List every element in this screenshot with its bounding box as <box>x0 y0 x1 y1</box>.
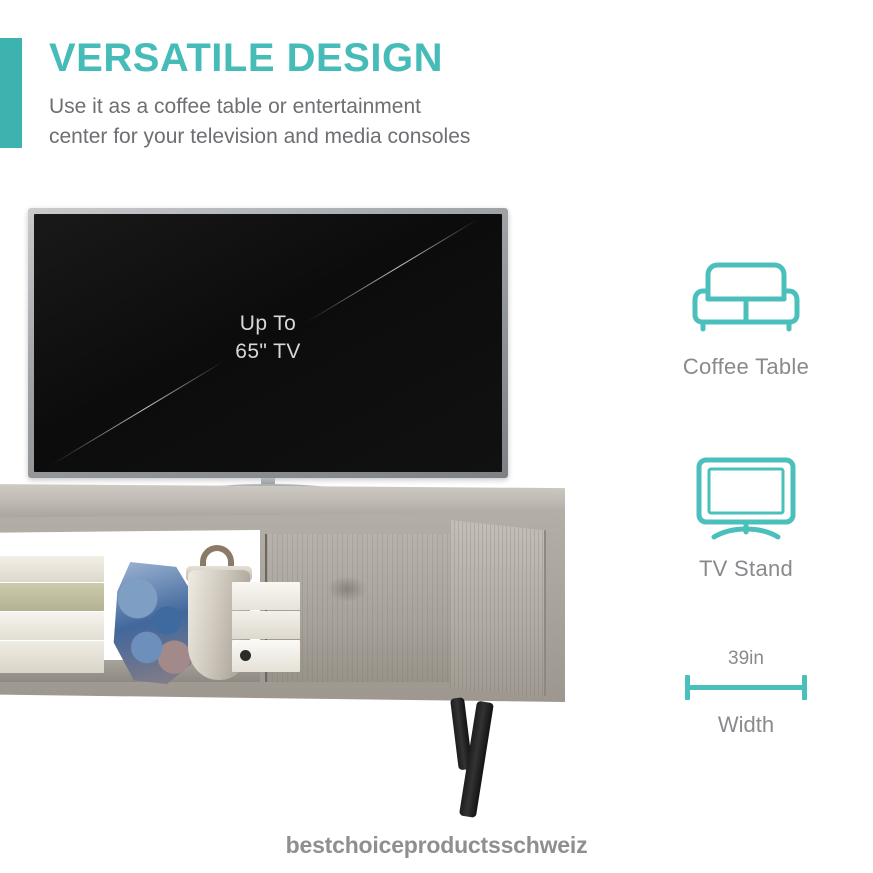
book-item <box>0 641 104 673</box>
console-side-panel <box>450 520 546 696</box>
book-item <box>232 582 300 610</box>
tv-caption-line-2: 65" TV <box>34 338 502 366</box>
feature-label: TV Stand <box>596 556 873 582</box>
book-stack-right <box>232 582 302 678</box>
dimension-line <box>689 685 803 690</box>
page-title: VERSATILE DESIGN <box>49 38 443 78</box>
dimension-cap-right <box>802 675 807 700</box>
watermark: bestchoiceproductsschweiz <box>0 832 873 859</box>
feature-tv-stand: TV Stand <box>596 452 873 582</box>
screen-glare-icon <box>306 219 478 323</box>
book-item <box>0 583 104 611</box>
accent-bar <box>0 38 22 148</box>
feature-coffee-table: Coffee Table <box>596 250 873 380</box>
subtitle-line-2: center for your television and media con… <box>49 122 669 152</box>
book-item <box>0 556 104 582</box>
book-emblem-icon <box>240 650 251 661</box>
sofa-icon <box>596 250 873 342</box>
dimension-bar-icon <box>683 674 809 700</box>
television: Up To 65" TV <box>28 208 508 508</box>
feature-label: Coffee Table <box>596 354 873 380</box>
dimension-width: 39in Width <box>596 648 873 738</box>
tv-bezel: Up To 65" TV <box>28 208 508 478</box>
tv-monitor-icon <box>596 452 873 544</box>
dimension-value: 39in <box>596 648 873 670</box>
book-item <box>0 612 104 640</box>
tv-caption-line-1: Up To <box>34 310 502 338</box>
book-item <box>232 611 300 639</box>
page-subtitle: Use it as a coffee table or entertainmen… <box>49 92 669 153</box>
tv-screen-caption: Up To 65" TV <box>34 310 502 367</box>
screen-glare-icon <box>52 361 224 465</box>
wood-knot-icon <box>327 576 367 602</box>
subtitle-line-1: Use it as a coffee table or entertainmen… <box>49 92 669 122</box>
marketing-image-canvas: VERSATILE DESIGN Use it as a coffee tabl… <box>0 0 873 873</box>
book-stack-left <box>0 556 108 676</box>
tv-screen: Up To 65" TV <box>34 214 502 472</box>
dimension-label: Width <box>596 712 873 738</box>
